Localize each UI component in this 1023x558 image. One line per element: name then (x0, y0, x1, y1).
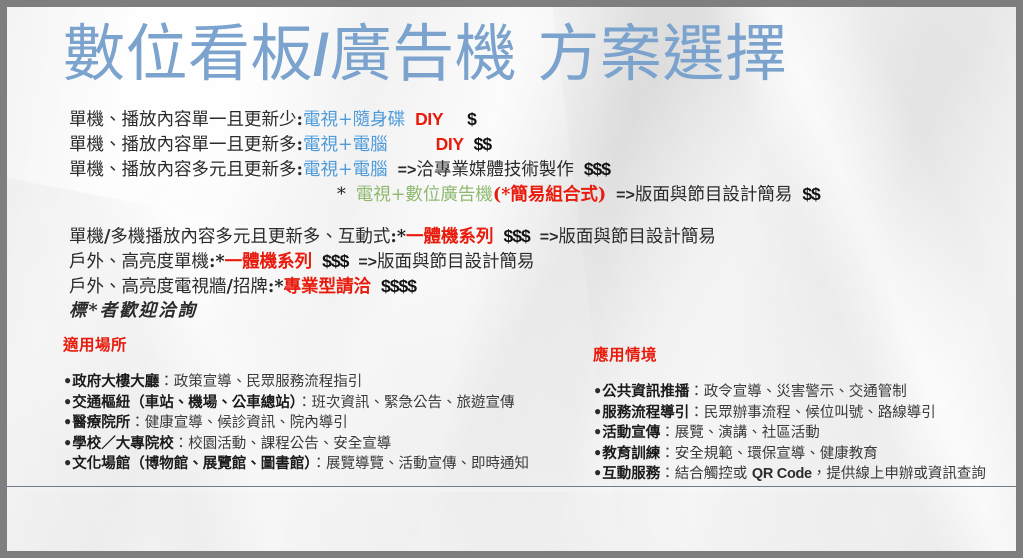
option-1-label: 單機、播放內容單一且更新少 (69, 110, 297, 130)
option-5-result: 版面與節目設計簡易 (558, 227, 716, 247)
venue-term: 文化場館（博物館、展覽館、圖書館） (72, 455, 311, 472)
page-title: 數位看板/廣告機 方案選擇 (63, 15, 787, 93)
list-item: •服務流程導引：民眾辦事流程、候位叫號、路線導引 (593, 403, 986, 424)
list-item: •學校／大專院校：校園活動、課程公告、安全宣導 (63, 434, 529, 455)
qr-code-label: QR Code (752, 466, 812, 482)
option-1-price: $ (467, 109, 476, 129)
option-5-label-a: 單機 (69, 227, 104, 247)
option-7-star: * (274, 277, 283, 297)
scenario-desc: ：安全規範、環保宣導、健康教育 (660, 446, 878, 462)
option-7-label-a: 戶外、高亮度電視牆 (69, 277, 227, 297)
option-2-label: 單機、播放內容單一且更新多 (69, 135, 297, 155)
option-6-arrow-icon: => (358, 254, 377, 271)
scenario-term: 公共資訊推播 (602, 383, 689, 400)
list-item: •教育訓練：安全規範、環保宣導、健康教育 (593, 444, 986, 465)
bullet-icon: • (593, 383, 602, 400)
title-text-before: 數位看板 (63, 17, 313, 90)
venue-desc: ：班次資訊、緊急公告、旅遊宣傳 (297, 395, 515, 411)
option-4-star: * (337, 185, 346, 205)
footer-band (7, 486, 1016, 553)
option-4-result: 版面與節目設計簡易 (635, 185, 793, 205)
venue-desc: ：健康宣導、候診資訊、院內導引 (130, 415, 348, 431)
bullet-icon: • (593, 404, 602, 421)
venue-term: 醫療院所 (72, 414, 130, 431)
option-3-arrow-icon: => (398, 162, 417, 179)
option-4-solution: 電視+數位廣告機 (356, 185, 493, 205)
option-4-paren-note: (*簡易組合式) (493, 185, 606, 205)
option-6-star: * (215, 252, 224, 272)
option-4-price: $$ (802, 184, 819, 204)
scenario-desc-a: ：結合觸控或 (660, 466, 752, 482)
option-6-solution: 一體機系列 (225, 252, 313, 272)
column-venues: 適用場所 •政府大樓大廳：政策宣導、民眾服務流程指引 •交通樞紐（車站、機場、公… (63, 335, 529, 475)
venue-term: 交通樞紐（車站、機場、公車總站） (72, 394, 297, 411)
option-list-spacer (69, 207, 999, 224)
option-line-1: 單機、播放內容單一且更新少:電視+隨身碟DIY$ (69, 107, 999, 132)
option-7-price: $$$$ (381, 276, 416, 296)
option-line-6: 戶外、高亮度單機:*一體機系列$$$=>版面與節目設計簡易 (69, 249, 999, 274)
option-5-label-b: 多機播放內容多元且更新多、互動式 (110, 227, 390, 247)
list-item: •公共資訊推播：政令宣導、災害警示、交通管制 (593, 382, 986, 403)
venue-desc: ：校園活動、課程公告、安全宣導 (174, 436, 392, 452)
bullet-icon: • (63, 414, 72, 431)
option-6-label: 戶外、高亮度單機 (69, 252, 209, 272)
option-2-solution: 電視+電腦 (303, 135, 388, 155)
option-3-label: 單機、播放內容多元且更新多 (69, 160, 297, 180)
option-7-solution: 專業型請洽 (284, 277, 372, 297)
scenario-desc: ：展覽、演講、社區活動 (660, 425, 820, 441)
option-line-2: 單機、播放內容單一且更新多:電視+電腦DIY$$ (69, 132, 999, 157)
scenario-term: 教育訓練 (602, 445, 660, 462)
option-line-7: 戶外、高亮度電視牆/招牌:*專業型請洽$$$$ (69, 274, 999, 299)
list-item: •交通樞紐（車站、機場、公車總站）：班次資訊、緊急公告、旅遊宣傳 (63, 393, 529, 414)
title-text-after: 廣告機 方案選擇 (330, 17, 788, 90)
column-scenarios-heading: 應用情境 (593, 345, 986, 365)
scenario-term: 服務流程導引 (602, 404, 689, 421)
scenario-term: 互動服務 (602, 465, 660, 482)
option-1-tag: DIY (415, 109, 443, 129)
option-2-tag: DIY (436, 134, 464, 154)
slide-canvas: 數位看板/廣告機 方案選擇 單機、播放內容單一且更新少:電視+隨身碟DIY$ 單… (0, 0, 1023, 558)
option-1-solution: 電視+隨身碟 (303, 110, 405, 130)
scenario-term: 活動宣傳 (602, 424, 660, 441)
option-line-5: 單機/多機播放內容多元且更新多、互動式:*一體機系列$$$=>版面與節目設計簡易 (69, 224, 999, 249)
list-item: •政府大樓大廳：政策宣導、民眾服務流程指引 (63, 372, 529, 393)
venue-desc: ：展覽導覽、活動宣傳、即時通知 (312, 456, 530, 472)
venue-term: 學校／大專院校 (72, 435, 174, 452)
scenario-desc: ：民眾辦事流程、候位叫號、路線導引 (689, 405, 936, 421)
option-7-label-b: 招牌 (233, 277, 268, 297)
option-3-solution: 電視+電腦 (303, 160, 388, 180)
scenario-desc-b: ，提供線上申辦或資訊查詢 (812, 466, 986, 482)
bullet-icon: • (63, 394, 72, 411)
option-4-arrow-icon: => (616, 187, 635, 204)
option-2-price: $$ (474, 134, 491, 154)
list-item: •文化場館（博物館、展覽館、圖書館）：展覽導覽、活動宣傳、即時通知 (63, 454, 529, 475)
bullet-icon: • (63, 455, 72, 472)
bullet-icon: • (63, 435, 72, 452)
option-6-price: $$$ (322, 251, 348, 271)
option-line-4: *電視+數位廣告機(*簡易組合式)=>版面與節目設計簡易$$ (69, 182, 999, 207)
footer-band-sheen (7, 487, 1016, 492)
column-scenarios: 應用情境 •公共資訊推播：政令宣導、災害警示、交通管制 •服務流程導引：民眾辦事… (593, 345, 986, 485)
bullet-icon: • (63, 373, 72, 390)
bullet-icon: • (593, 424, 602, 441)
venue-desc: ：政策宣導、民眾服務流程指引 (159, 374, 362, 390)
venue-term: 政府大樓大廳 (72, 373, 159, 390)
option-5-arrow-icon: => (540, 229, 559, 246)
title-slash: / (313, 23, 330, 88)
column-venues-list: •政府大樓大廳：政策宣導、民眾服務流程指引 •交通樞紐（車站、機場、公車總站）：… (63, 372, 529, 475)
option-3-price: $$$ (584, 159, 610, 179)
column-venues-heading: 適用場所 (63, 335, 529, 355)
scenario-desc: ：政令宣導、災害警示、交通管制 (689, 384, 907, 400)
option-5-solution: 一體機系列 (406, 227, 494, 247)
list-item: •醫療院所：健康宣導、候診資訊、院內導引 (63, 413, 529, 434)
bullet-icon: • (593, 445, 602, 462)
option-line-3: 單機、播放內容多元且更新多:電視+電腦=>洽專業媒體技術製作$$$ (69, 157, 999, 182)
option-5-price: $$$ (504, 226, 530, 246)
option-footnote: 標*者歡迎洽詢 (69, 299, 999, 324)
option-3-result: 洽專業媒體技術製作 (416, 160, 574, 180)
list-item: •互動服務：結合觸控或 QR Code，提供線上申辦或資訊查詢 (593, 464, 986, 485)
option-list: 單機、播放內容單一且更新少:電視+隨身碟DIY$ 單機、播放內容單一且更新多:電… (69, 107, 999, 324)
list-item: •活動宣傳：展覽、演講、社區活動 (593, 423, 986, 444)
option-5-star: * (397, 227, 406, 247)
option-6-result: 版面與節目設計簡易 (377, 252, 535, 272)
footer-gray-strip (7, 552, 1016, 558)
bullet-icon: • (593, 465, 602, 482)
column-scenarios-list: •公共資訊推播：政令宣導、災害警示、交通管制 •服務流程導引：民眾辦事流程、候位… (593, 382, 986, 485)
